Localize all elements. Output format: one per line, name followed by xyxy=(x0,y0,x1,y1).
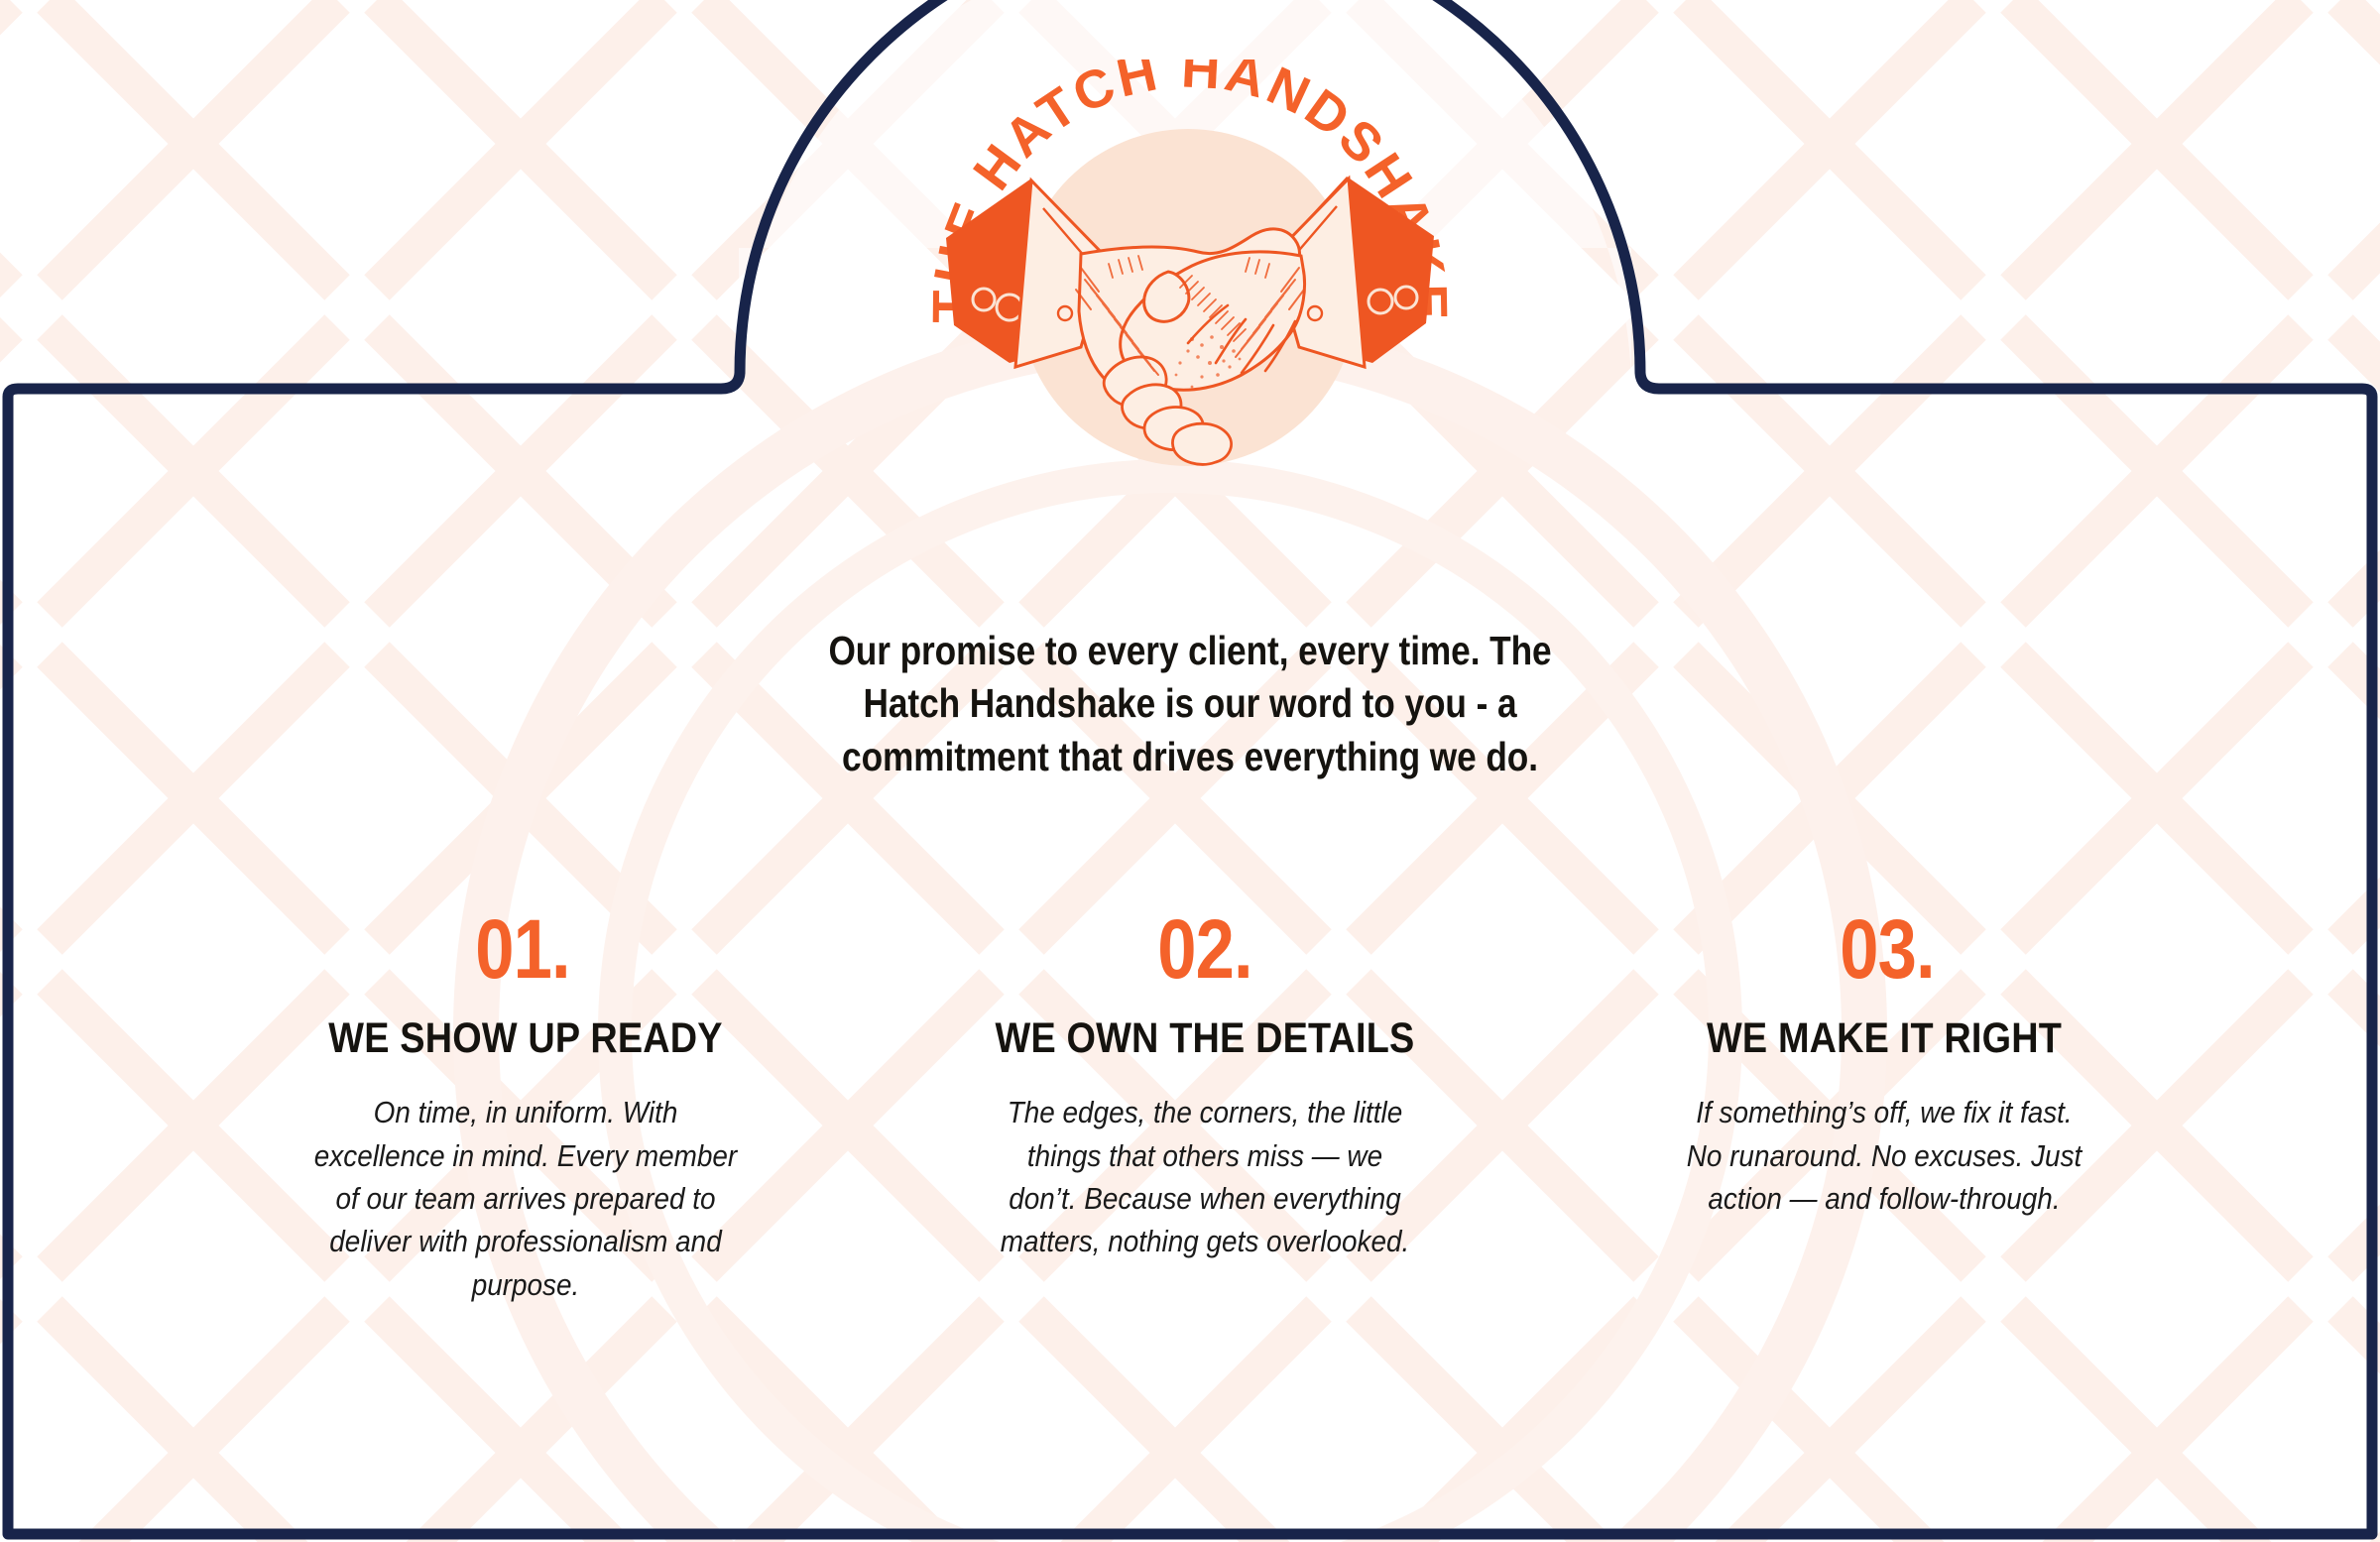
pillar-number-3: 03. xyxy=(1623,907,2152,991)
pillar-number-2: 02. xyxy=(938,907,1472,991)
pillar-body-2: The edges, the corners, the little thing… xyxy=(919,1091,1490,1263)
pillar-card-2: 02. WE OWN THE DETAILS The edges, the co… xyxy=(888,907,1522,1263)
pillar-card-3: 03. WE MAKE IT RIGHT If something’s off,… xyxy=(1567,907,2201,1220)
pillars-row: 01. WE SHOW UP READY On time, in uniform… xyxy=(59,907,2320,1324)
pillar-card-1: 01. WE SHOW UP READY On time, in uniform… xyxy=(208,907,843,1306)
pillar-body-3: If something’s off, we fix it fast. No r… xyxy=(1599,1091,2170,1220)
pillar-body-1: On time, in uniform. With excellence in … xyxy=(240,1091,811,1306)
pillar-title-1: WE SHOW UP READY xyxy=(246,1016,804,1061)
pillar-number-1: 01. xyxy=(254,907,792,991)
infographic-canvas: THE HATCH HANDSHAKE xyxy=(0,0,2380,1542)
pillar-title-2: WE OWN THE DETAILS xyxy=(925,1016,1484,1061)
intro-paragraph: Our promise to every client, every time.… xyxy=(823,625,1557,783)
hatch-handshake-emblem: THE HATCH HANDSHAKE xyxy=(932,59,1448,565)
pillar-title-3: WE MAKE IT RIGHT xyxy=(1605,1016,2163,1061)
